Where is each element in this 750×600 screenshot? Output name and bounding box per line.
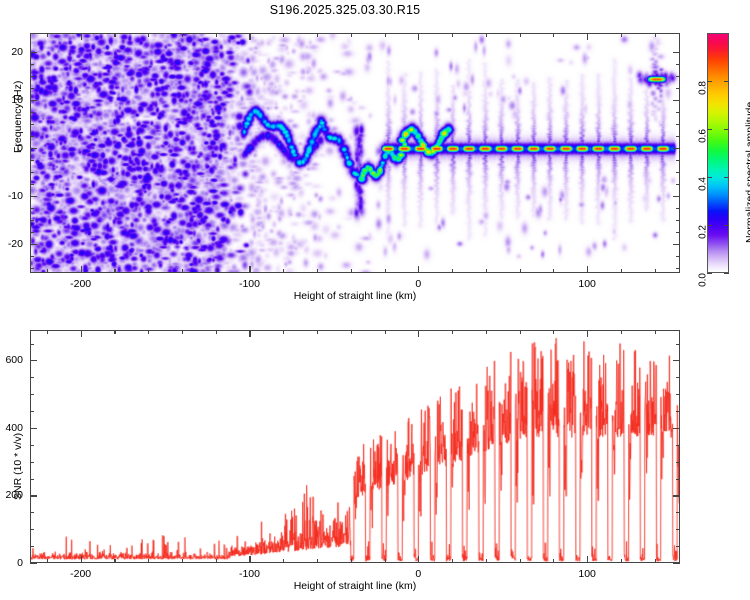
snr-trace [31, 331, 679, 562]
x-minor-tick [216, 330, 217, 334]
x-minor-tick [655, 269, 656, 273]
x-minor-tick [283, 269, 284, 273]
snr-y-axis-title: SNR (10 * v/v) [12, 433, 24, 500]
x-major-tick [81, 330, 82, 337]
x-tick-label: -200 [70, 278, 91, 290]
x-tick-label: 100 [578, 568, 596, 580]
y-major-tick [673, 495, 680, 496]
x-minor-tick [317, 269, 318, 273]
x-major-tick [418, 330, 419, 337]
y-major-tick [30, 100, 37, 101]
y-minor-tick [676, 232, 680, 233]
x-minor-tick [486, 330, 487, 334]
x-minor-tick [216, 269, 217, 273]
x-minor-tick [385, 559, 386, 563]
x-major-tick [587, 266, 588, 273]
y-minor-tick [30, 76, 34, 77]
x-minor-tick [47, 330, 48, 334]
x-minor-tick [452, 559, 453, 563]
x-minor-tick [351, 330, 352, 334]
x-major-tick [81, 33, 82, 40]
x-minor-tick [148, 269, 149, 273]
spectrogram-x-axis-title: Height of straight line (km) [294, 290, 417, 302]
y-major-tick [673, 196, 680, 197]
y-minor-tick [30, 124, 34, 125]
colorbar-tick [724, 129, 729, 130]
x-minor-tick [621, 269, 622, 273]
y-minor-tick [676, 377, 680, 378]
y-minor-tick [30, 479, 34, 480]
x-major-tick [249, 556, 250, 563]
colorbar-tick [724, 273, 729, 274]
spectrogram-y-axis-title: Frequency (Hz) [12, 81, 24, 153]
x-tick-label: 0 [415, 568, 421, 580]
x-minor-tick [216, 33, 217, 37]
x-minor-tick [520, 559, 521, 563]
y-major-tick [30, 495, 37, 496]
x-minor-tick [655, 330, 656, 334]
x-major-tick [587, 33, 588, 40]
y-minor-tick [676, 172, 680, 173]
y-minor-tick [30, 220, 34, 221]
y-major-tick [30, 52, 37, 53]
y-minor-tick [676, 64, 680, 65]
x-minor-tick [351, 33, 352, 37]
y-minor-tick [676, 268, 680, 269]
y-minor-tick [30, 546, 34, 547]
y-minor-tick [30, 172, 34, 173]
y-minor-tick [30, 184, 34, 185]
x-minor-tick [520, 269, 521, 273]
x-tick-label: -200 [70, 568, 91, 580]
y-tick-label: 20 [11, 46, 23, 58]
y-minor-tick [30, 256, 34, 257]
y-minor-tick [30, 112, 34, 113]
y-major-tick [673, 148, 680, 149]
x-major-tick [587, 330, 588, 337]
x-tick-label: -100 [239, 568, 260, 580]
x-minor-tick [520, 330, 521, 334]
x-minor-tick [621, 33, 622, 37]
colorbar [707, 33, 729, 273]
y-minor-tick [676, 394, 680, 395]
y-minor-tick [676, 160, 680, 161]
colorbar-title: Normalized spectral amplitude [744, 102, 750, 243]
x-minor-tick [553, 330, 554, 334]
x-minor-tick [486, 559, 487, 563]
x-minor-tick [114, 269, 115, 273]
x-minor-tick [114, 33, 115, 37]
colorbar-tick [724, 177, 729, 178]
x-major-tick [587, 556, 588, 563]
x-minor-tick [47, 559, 48, 563]
y-minor-tick [676, 124, 680, 125]
y-major-tick [673, 52, 680, 53]
x-tick-label: 0 [415, 278, 421, 290]
y-minor-tick [676, 88, 680, 89]
x-minor-tick [385, 33, 386, 37]
y-minor-tick [676, 462, 680, 463]
y-minor-tick [30, 64, 34, 65]
x-major-tick [418, 33, 419, 40]
colorbar-tick-label: 0.6 [698, 129, 709, 143]
y-minor-tick [676, 411, 680, 412]
y-tick-label: 0 [17, 557, 23, 569]
y-minor-tick [676, 344, 680, 345]
y-minor-tick [676, 208, 680, 209]
y-major-tick [673, 563, 680, 564]
x-minor-tick [486, 33, 487, 37]
colorbar-tick-label: 0.0 [698, 273, 709, 287]
x-minor-tick [182, 33, 183, 37]
y-major-tick [673, 428, 680, 429]
x-minor-tick [655, 559, 656, 563]
x-tick-label: 100 [578, 278, 596, 290]
figure-root: S196.2025.325.03.30.R15 -200-1000100-20-… [0, 0, 750, 600]
spectrogram-image [31, 34, 679, 272]
x-minor-tick [148, 559, 149, 563]
x-minor-tick [520, 33, 521, 37]
x-minor-tick [216, 559, 217, 563]
colorbar-tick-label: 0.8 [698, 81, 709, 95]
x-minor-tick [452, 330, 453, 334]
x-minor-tick [351, 559, 352, 563]
y-minor-tick [676, 136, 680, 137]
y-major-tick [30, 196, 37, 197]
spectrogram-panel [30, 33, 680, 273]
y-minor-tick [30, 136, 34, 137]
snr-x-axis-title: Height of straight line (km) [294, 580, 417, 592]
y-minor-tick [30, 232, 34, 233]
x-minor-tick [385, 269, 386, 273]
x-major-tick [418, 266, 419, 273]
y-major-tick [673, 360, 680, 361]
y-minor-tick [676, 445, 680, 446]
x-major-tick [81, 266, 82, 273]
x-major-tick [81, 556, 82, 563]
x-minor-tick [148, 330, 149, 334]
colorbar-tick [724, 81, 729, 82]
colorbar-tick-label: 0.2 [698, 225, 709, 239]
x-minor-tick [283, 330, 284, 334]
x-tick-label: -100 [239, 278, 260, 290]
y-major-tick [673, 100, 680, 101]
y-minor-tick [30, 411, 34, 412]
x-major-tick [418, 556, 419, 563]
y-major-tick [30, 360, 37, 361]
y-minor-tick [30, 445, 34, 446]
x-minor-tick [114, 559, 115, 563]
x-minor-tick [114, 330, 115, 334]
y-major-tick [30, 148, 37, 149]
x-minor-tick [452, 33, 453, 37]
y-minor-tick [30, 377, 34, 378]
y-minor-tick [30, 88, 34, 89]
y-minor-tick [676, 512, 680, 513]
x-minor-tick [655, 33, 656, 37]
y-minor-tick [30, 394, 34, 395]
y-minor-tick [676, 529, 680, 530]
x-minor-tick [182, 269, 183, 273]
x-major-tick [249, 266, 250, 273]
x-minor-tick [317, 559, 318, 563]
x-minor-tick [351, 269, 352, 273]
y-minor-tick [30, 512, 34, 513]
x-minor-tick [621, 559, 622, 563]
x-minor-tick [317, 330, 318, 334]
x-minor-tick [182, 559, 183, 563]
x-minor-tick [47, 33, 48, 37]
x-minor-tick [317, 33, 318, 37]
page-title: S196.2025.325.03.30.R15 [0, 3, 690, 17]
x-major-tick [249, 330, 250, 337]
x-major-tick [249, 33, 250, 40]
y-major-tick [30, 244, 37, 245]
colorbar-tick [724, 225, 729, 226]
y-minor-tick [676, 220, 680, 221]
y-minor-tick [676, 112, 680, 113]
y-minor-tick [30, 462, 34, 463]
y-minor-tick [30, 208, 34, 209]
y-tick-label: -20 [8, 238, 23, 250]
x-minor-tick [486, 269, 487, 273]
y-minor-tick [30, 268, 34, 269]
y-major-tick [30, 428, 37, 429]
y-minor-tick [676, 256, 680, 257]
colorbar-tick-label: 0.4 [698, 177, 709, 191]
x-minor-tick [283, 33, 284, 37]
y-minor-tick [30, 529, 34, 530]
x-minor-tick [452, 269, 453, 273]
x-minor-tick [148, 33, 149, 37]
y-minor-tick [676, 184, 680, 185]
y-minor-tick [676, 76, 680, 77]
y-minor-tick [30, 160, 34, 161]
x-minor-tick [47, 269, 48, 273]
y-minor-tick [676, 546, 680, 547]
x-minor-tick [182, 330, 183, 334]
y-tick-label: -10 [8, 190, 23, 202]
x-minor-tick [283, 559, 284, 563]
y-major-tick [673, 244, 680, 245]
y-major-tick [30, 563, 37, 564]
x-minor-tick [553, 269, 554, 273]
x-minor-tick [553, 33, 554, 37]
colorbar-gradient [707, 33, 729, 273]
y-tick-label: 600 [5, 354, 23, 366]
x-minor-tick [553, 559, 554, 563]
x-minor-tick [385, 330, 386, 334]
y-minor-tick [30, 344, 34, 345]
x-minor-tick [621, 330, 622, 334]
y-minor-tick [676, 479, 680, 480]
snr-panel [30, 330, 680, 563]
